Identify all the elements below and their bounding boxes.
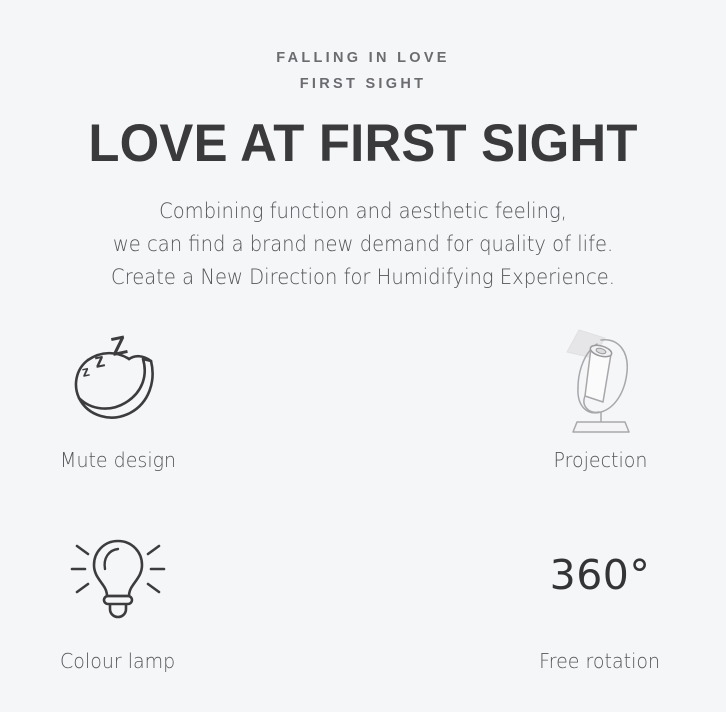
degrees-value: 360°	[550, 551, 651, 599]
svg-text:z: z	[80, 362, 91, 380]
body-line-3: Create a New Direction for Humidifying E…	[25, 261, 700, 294]
svg-text:Z: Z	[108, 329, 130, 362]
eyebrow-line-2: FIRST SIGHT	[0, 71, 726, 97]
body-line-1: Combining function and aesthetic feeling…	[25, 195, 700, 228]
feature-mute-design: z z Z Mute design	[0, 322, 363, 472]
feature-label: Free rotation	[540, 649, 661, 673]
projector-icon	[545, 322, 655, 440]
feature-label: Mute design	[60, 448, 176, 472]
eyebrow-line-1: FALLING IN LOVE	[0, 45, 726, 71]
feature-row-2: Colour lamp 360° Free rotation	[0, 525, 726, 673]
body-line-2: we can find a brand new demand for quali…	[25, 228, 700, 261]
feature-colour-lamp: Colour lamp	[0, 525, 363, 673]
feature-free-rotation: 360° Free rotation	[363, 525, 726, 673]
lightbulb-icon	[66, 525, 170, 625]
moon-zzz-icon: z z Z	[63, 322, 173, 440]
body-copy: Combining function and aesthetic feeling…	[0, 195, 726, 294]
feature-grid: z z Z Mute design	[0, 322, 726, 673]
360-degrees-text: 360°	[550, 525, 651, 625]
feature-label: Projection	[553, 448, 647, 472]
feature-row-1: z z Z Mute design	[0, 322, 726, 472]
promo-page: FALLING IN LOVE FIRST SIGHT LOVE AT FIRS…	[0, 0, 726, 712]
feature-label: Colour lamp	[60, 649, 175, 673]
eyebrow: FALLING IN LOVE FIRST SIGHT	[0, 0, 726, 97]
page-title: LOVE AT FIRST SIGHT	[15, 115, 712, 173]
feature-projection: Projection	[363, 322, 726, 472]
